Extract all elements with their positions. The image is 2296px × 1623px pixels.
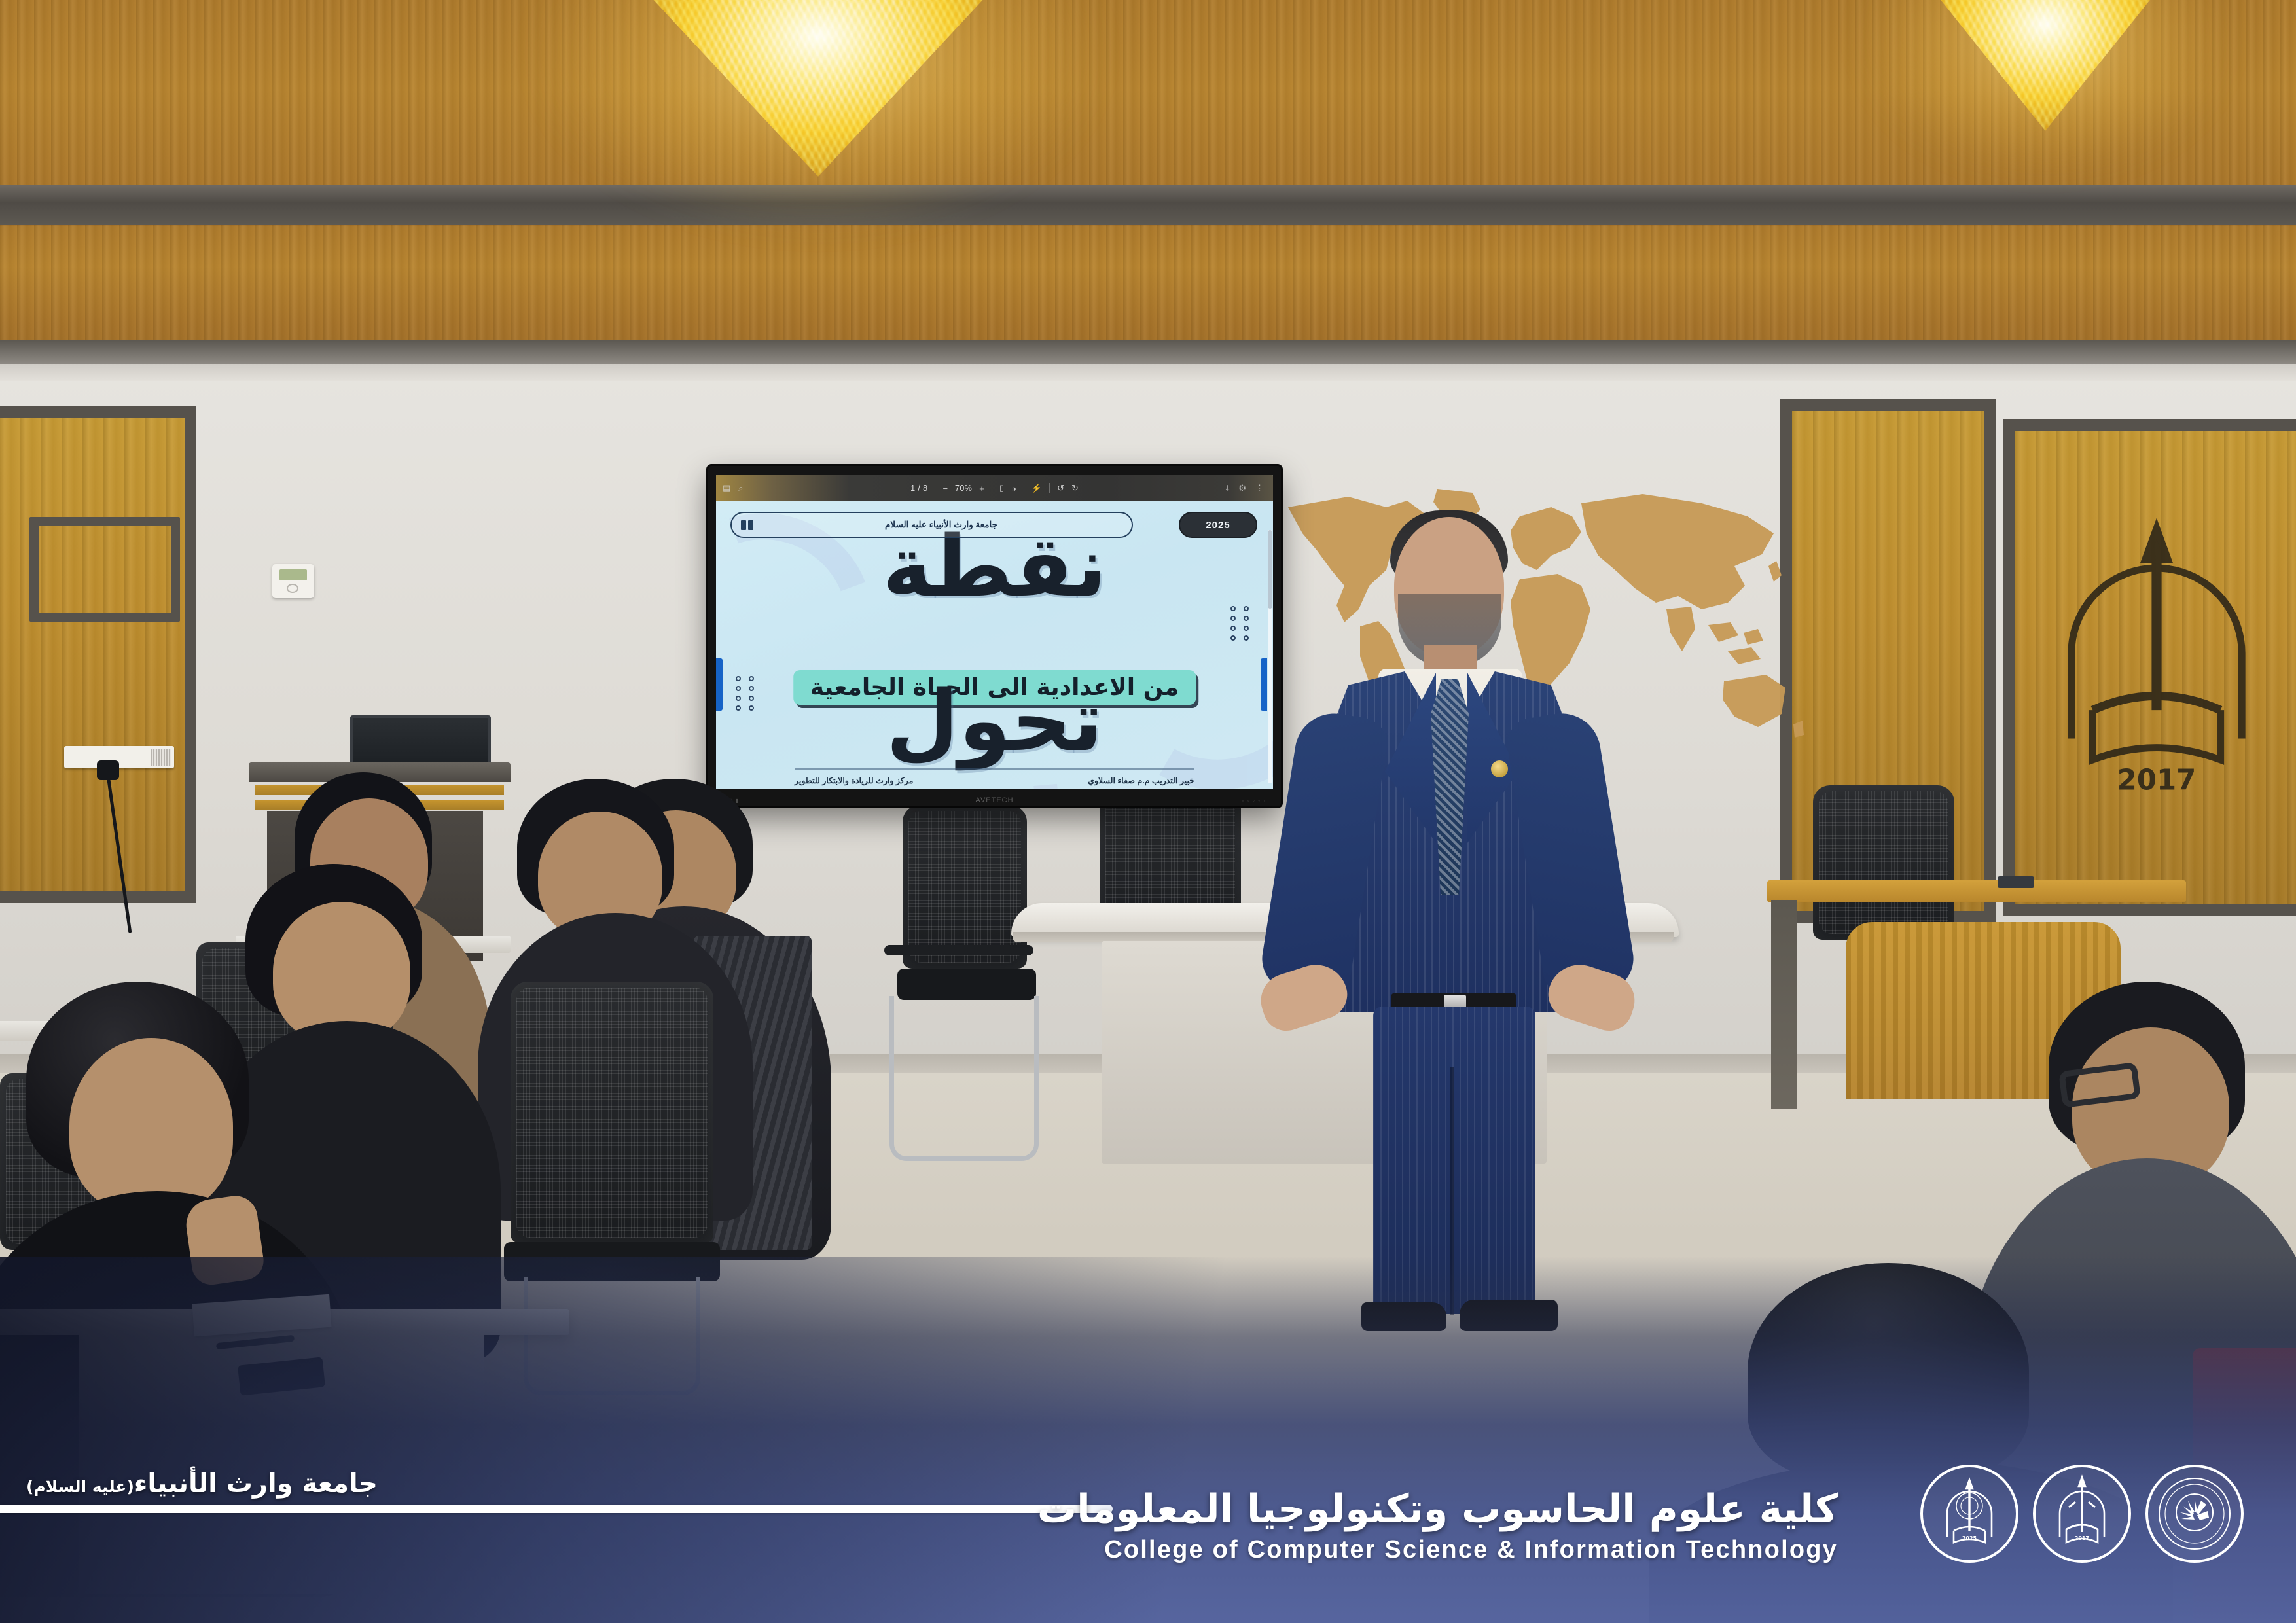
ministry-seal-icon <box>2145 1465 2244 1563</box>
institution-seals: 2025 2017 <box>1920 1465 2244 1563</box>
undo-icon[interactable]: ↺ <box>1057 483 1064 493</box>
zoom-out-button[interactable]: − <box>942 484 948 493</box>
toolbar-divider <box>1049 483 1050 493</box>
display-brand-label: AVETECH <box>975 796 1013 804</box>
lecture-hall-room: 2017 <box>0 0 2296 1623</box>
toolbar-divider <box>992 483 992 493</box>
zoom-level: 70% <box>955 484 972 493</box>
slide-year-badge: 2025 <box>1179 512 1257 538</box>
more-icon[interactable]: ⋮ <box>1255 483 1264 493</box>
chair-frame <box>524 1277 700 1395</box>
university-crest-icon: 2017 <box>2015 431 2296 904</box>
toolbar-divider <box>1024 483 1024 493</box>
book-icon <box>741 520 753 530</box>
wall-top-rail <box>0 364 2296 381</box>
presenter-shoe-left <box>1361 1302 1446 1331</box>
page-indicator: 1 / 8 <box>910 484 927 493</box>
side-desk-leg <box>1771 900 1797 1109</box>
highlight-icon[interactable]: ⚡ <box>1031 483 1042 493</box>
presentation-slide: نقطة جامعة وارث الأنبياء عليه السلام 202… <box>716 501 1273 789</box>
chair-backrest <box>511 982 713 1243</box>
toolbar-left-group[interactable]: ▤ ⌕ <box>723 483 744 493</box>
toolbar-right-group[interactable]: ⤓ ⚙ ⋮ <box>1226 483 1264 493</box>
college-title-block: كلية علوم الحاسوب وتكنولوجيا المعلومات C… <box>1037 1487 1838 1564</box>
laptop[interactable] <box>350 715 491 766</box>
sidebar-icon[interactable]: ▤ <box>723 483 730 493</box>
screenshot-canvas: 2017 <box>0 0 2296 1623</box>
thermostat-display <box>279 569 307 580</box>
search-icon[interactable]: ⌕ <box>738 483 743 493</box>
thermostat[interactable] <box>272 564 314 598</box>
university-plaque-panel: 2017 <box>2003 419 2296 916</box>
university-honorific: (عليه السلام) <box>26 1477 134 1496</box>
university-name-main: جامعة وارث الأنبياء <box>134 1469 378 1499</box>
redo-icon[interactable]: ↻ <box>1071 483 1079 493</box>
audience-member <box>1676 1263 2121 1623</box>
chair-seat <box>504 1242 720 1281</box>
slide-footer-right: خبير التدريب م.م صفاء السلاوي <box>1088 776 1194 785</box>
presenter-figure <box>1263 517 1630 1361</box>
side-desk-object <box>1998 876 2034 888</box>
svg-text:2017: 2017 <box>2075 1535 2089 1541</box>
university-name-arabic: جامعة وارث الأنبياء(عليه السلام) <box>26 1469 378 1499</box>
rotate-icon[interactable]: ◑ <box>1011 484 1016 493</box>
slide-title-line-2: تحول <box>716 683 1273 760</box>
settings-icon[interactable]: ⚙ <box>1238 483 1246 493</box>
wall-trim-seam <box>0 340 2296 364</box>
footer-divider-rule <box>0 1505 1113 1513</box>
presenter-lapel-pin <box>1491 760 1508 777</box>
slide-title-line-1: نقطة <box>716 529 1273 606</box>
ceiling-soffit-shadow <box>0 185 2296 225</box>
college-seal-icon: 2025 <box>1920 1465 2018 1563</box>
side-desk-top <box>1767 880 2186 902</box>
toolbar-divider <box>935 483 935 493</box>
thermostat-dial-icon <box>287 584 298 593</box>
download-icon[interactable]: ⤓ <box>1226 483 1230 493</box>
college-name-english: College of Computer Science & Informatio… <box>1037 1536 1838 1564</box>
slide-side-tab-left[interactable] <box>716 658 723 711</box>
slide-header-text: جامعة وارث الأنبياء عليه السلام <box>760 520 1122 530</box>
svg-text:2017: 2017 <box>2117 764 2197 797</box>
university-seal-icon: 2017 <box>2033 1465 2131 1563</box>
presenter-trousers <box>1373 1007 1535 1314</box>
slide-header-pill: جامعة وارث الأنبياء عليه السلام <box>730 512 1133 538</box>
chair-backrest <box>903 805 1027 969</box>
power-outlet[interactable] <box>64 746 174 768</box>
outlet-vent <box>151 749 171 766</box>
slide-footer-rule <box>795 768 1194 770</box>
slide-dot-grid-right <box>1230 606 1251 641</box>
zoom-in-button[interactable]: + <box>979 484 984 493</box>
pdf-viewer-toolbar[interactable]: ▤ ⌕ 1 / 8 − 70% + ▯ ◑ ⚡ ↺ ↻ <box>716 475 1273 501</box>
college-name-arabic: كلية علوم الحاسوب وتكنولوجيا المعلومات <box>1037 1487 1838 1532</box>
left-panel-inset-frame <box>29 517 180 622</box>
wall-display[interactable]: ▤ ⌕ 1 / 8 − 70% + ▯ ◑ ⚡ ↺ ↻ <box>708 466 1281 806</box>
fit-page-icon[interactable]: ▯ <box>999 483 1004 493</box>
presenter-trouser-seam <box>1450 1067 1454 1315</box>
presenter-shoe-right <box>1460 1300 1558 1331</box>
left-wall-wood-panel <box>0 406 196 903</box>
svg-text:2025: 2025 <box>1962 1535 1977 1541</box>
display-screen[interactable]: ▤ ⌕ 1 / 8 − 70% + ▯ ◑ ⚡ ↺ ↻ <box>716 475 1273 789</box>
